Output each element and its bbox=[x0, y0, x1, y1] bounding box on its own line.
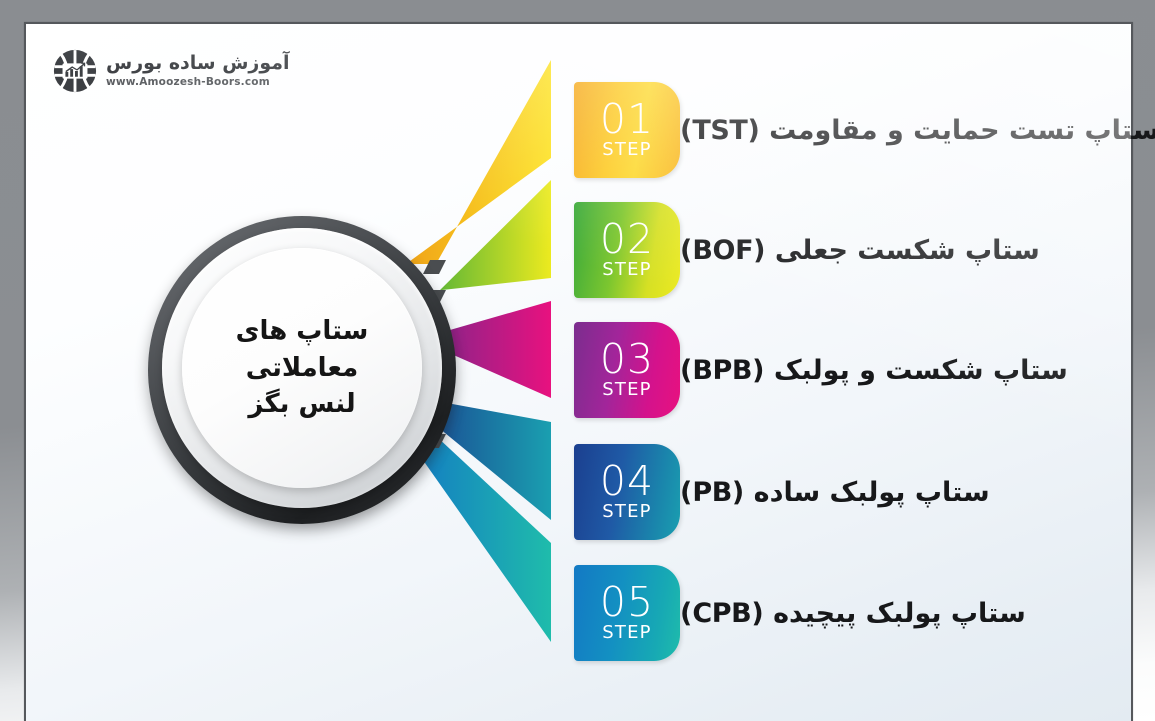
step-word-5: STEP bbox=[602, 622, 651, 643]
step-word-3: STEP bbox=[602, 379, 651, 400]
hub-title-line-3: لنس بگز bbox=[248, 386, 355, 423]
step-badge-4[interactable]: 04 STEP bbox=[574, 444, 680, 540]
step-label-4: ستاپ پولبک ساده (PB) bbox=[680, 477, 990, 508]
hub-inner-circle: ستاپ های معاملاتی لنس بگز bbox=[182, 248, 422, 488]
brand-name: آموزش ساده بورس bbox=[106, 54, 290, 74]
step-number-3: 03 bbox=[600, 340, 654, 379]
step-word-2: STEP bbox=[602, 259, 651, 280]
outer-frame: آموزش ساده بورس www.Amoozesh-Boors.com س… bbox=[0, 0, 1155, 721]
step-number-5: 05 bbox=[600, 583, 654, 622]
step-badge-3[interactable]: 03 STEP bbox=[574, 322, 680, 418]
step-word-4: STEP bbox=[602, 501, 651, 522]
globe-chart-icon bbox=[52, 48, 98, 94]
hub-title-line-1: ستاپ های bbox=[236, 313, 369, 350]
step-row-5[interactable]: 05 STEP ستاپ پولبک پیچیده (CPB) bbox=[574, 565, 1044, 661]
step-row-3[interactable]: 03 STEP ستاپ شکست و پولبک (BPB) bbox=[574, 322, 1086, 418]
brand-logo: آموزش ساده بورس www.Amoozesh-Boors.com bbox=[52, 48, 290, 94]
brand-url: www.Amoozesh-Boors.com bbox=[106, 76, 290, 88]
hub-title-line-2: معاملاتی bbox=[246, 350, 358, 387]
step-label-5: ستاپ پولبک پیچیده (CPB) bbox=[680, 598, 1026, 629]
center-hub: ستاپ های معاملاتی لنس بگز bbox=[148, 216, 456, 524]
step-number-2: 02 bbox=[600, 220, 654, 259]
step-badge-2[interactable]: 02 STEP bbox=[574, 202, 680, 298]
step-label-3: ستاپ شکست و پولبک (BPB) bbox=[680, 355, 1068, 386]
step-label-1: ستاپ تست حمایت و مقاومت (TST) bbox=[680, 115, 1155, 146]
step-badge-1[interactable]: 01 STEP bbox=[574, 82, 680, 178]
infographic-card: آموزش ساده بورس www.Amoozesh-Boors.com س… bbox=[24, 22, 1133, 721]
step-row-2[interactable]: 02 STEP ستاپ شکست جعلی (BOF) bbox=[574, 202, 1058, 298]
step-number-4: 04 bbox=[600, 462, 654, 501]
step-row-1[interactable]: 01 STEP ستاپ تست حمایت و مقاومت (TST) bbox=[574, 82, 1155, 178]
step-word-1: STEP bbox=[602, 139, 651, 160]
step-label-2: ستاپ شکست جعلی (BOF) bbox=[680, 235, 1040, 266]
step-badge-5[interactable]: 05 STEP bbox=[574, 565, 680, 661]
step-row-4[interactable]: 04 STEP ستاپ پولبک ساده (PB) bbox=[574, 444, 1008, 540]
step-number-1: 01 bbox=[600, 100, 654, 139]
